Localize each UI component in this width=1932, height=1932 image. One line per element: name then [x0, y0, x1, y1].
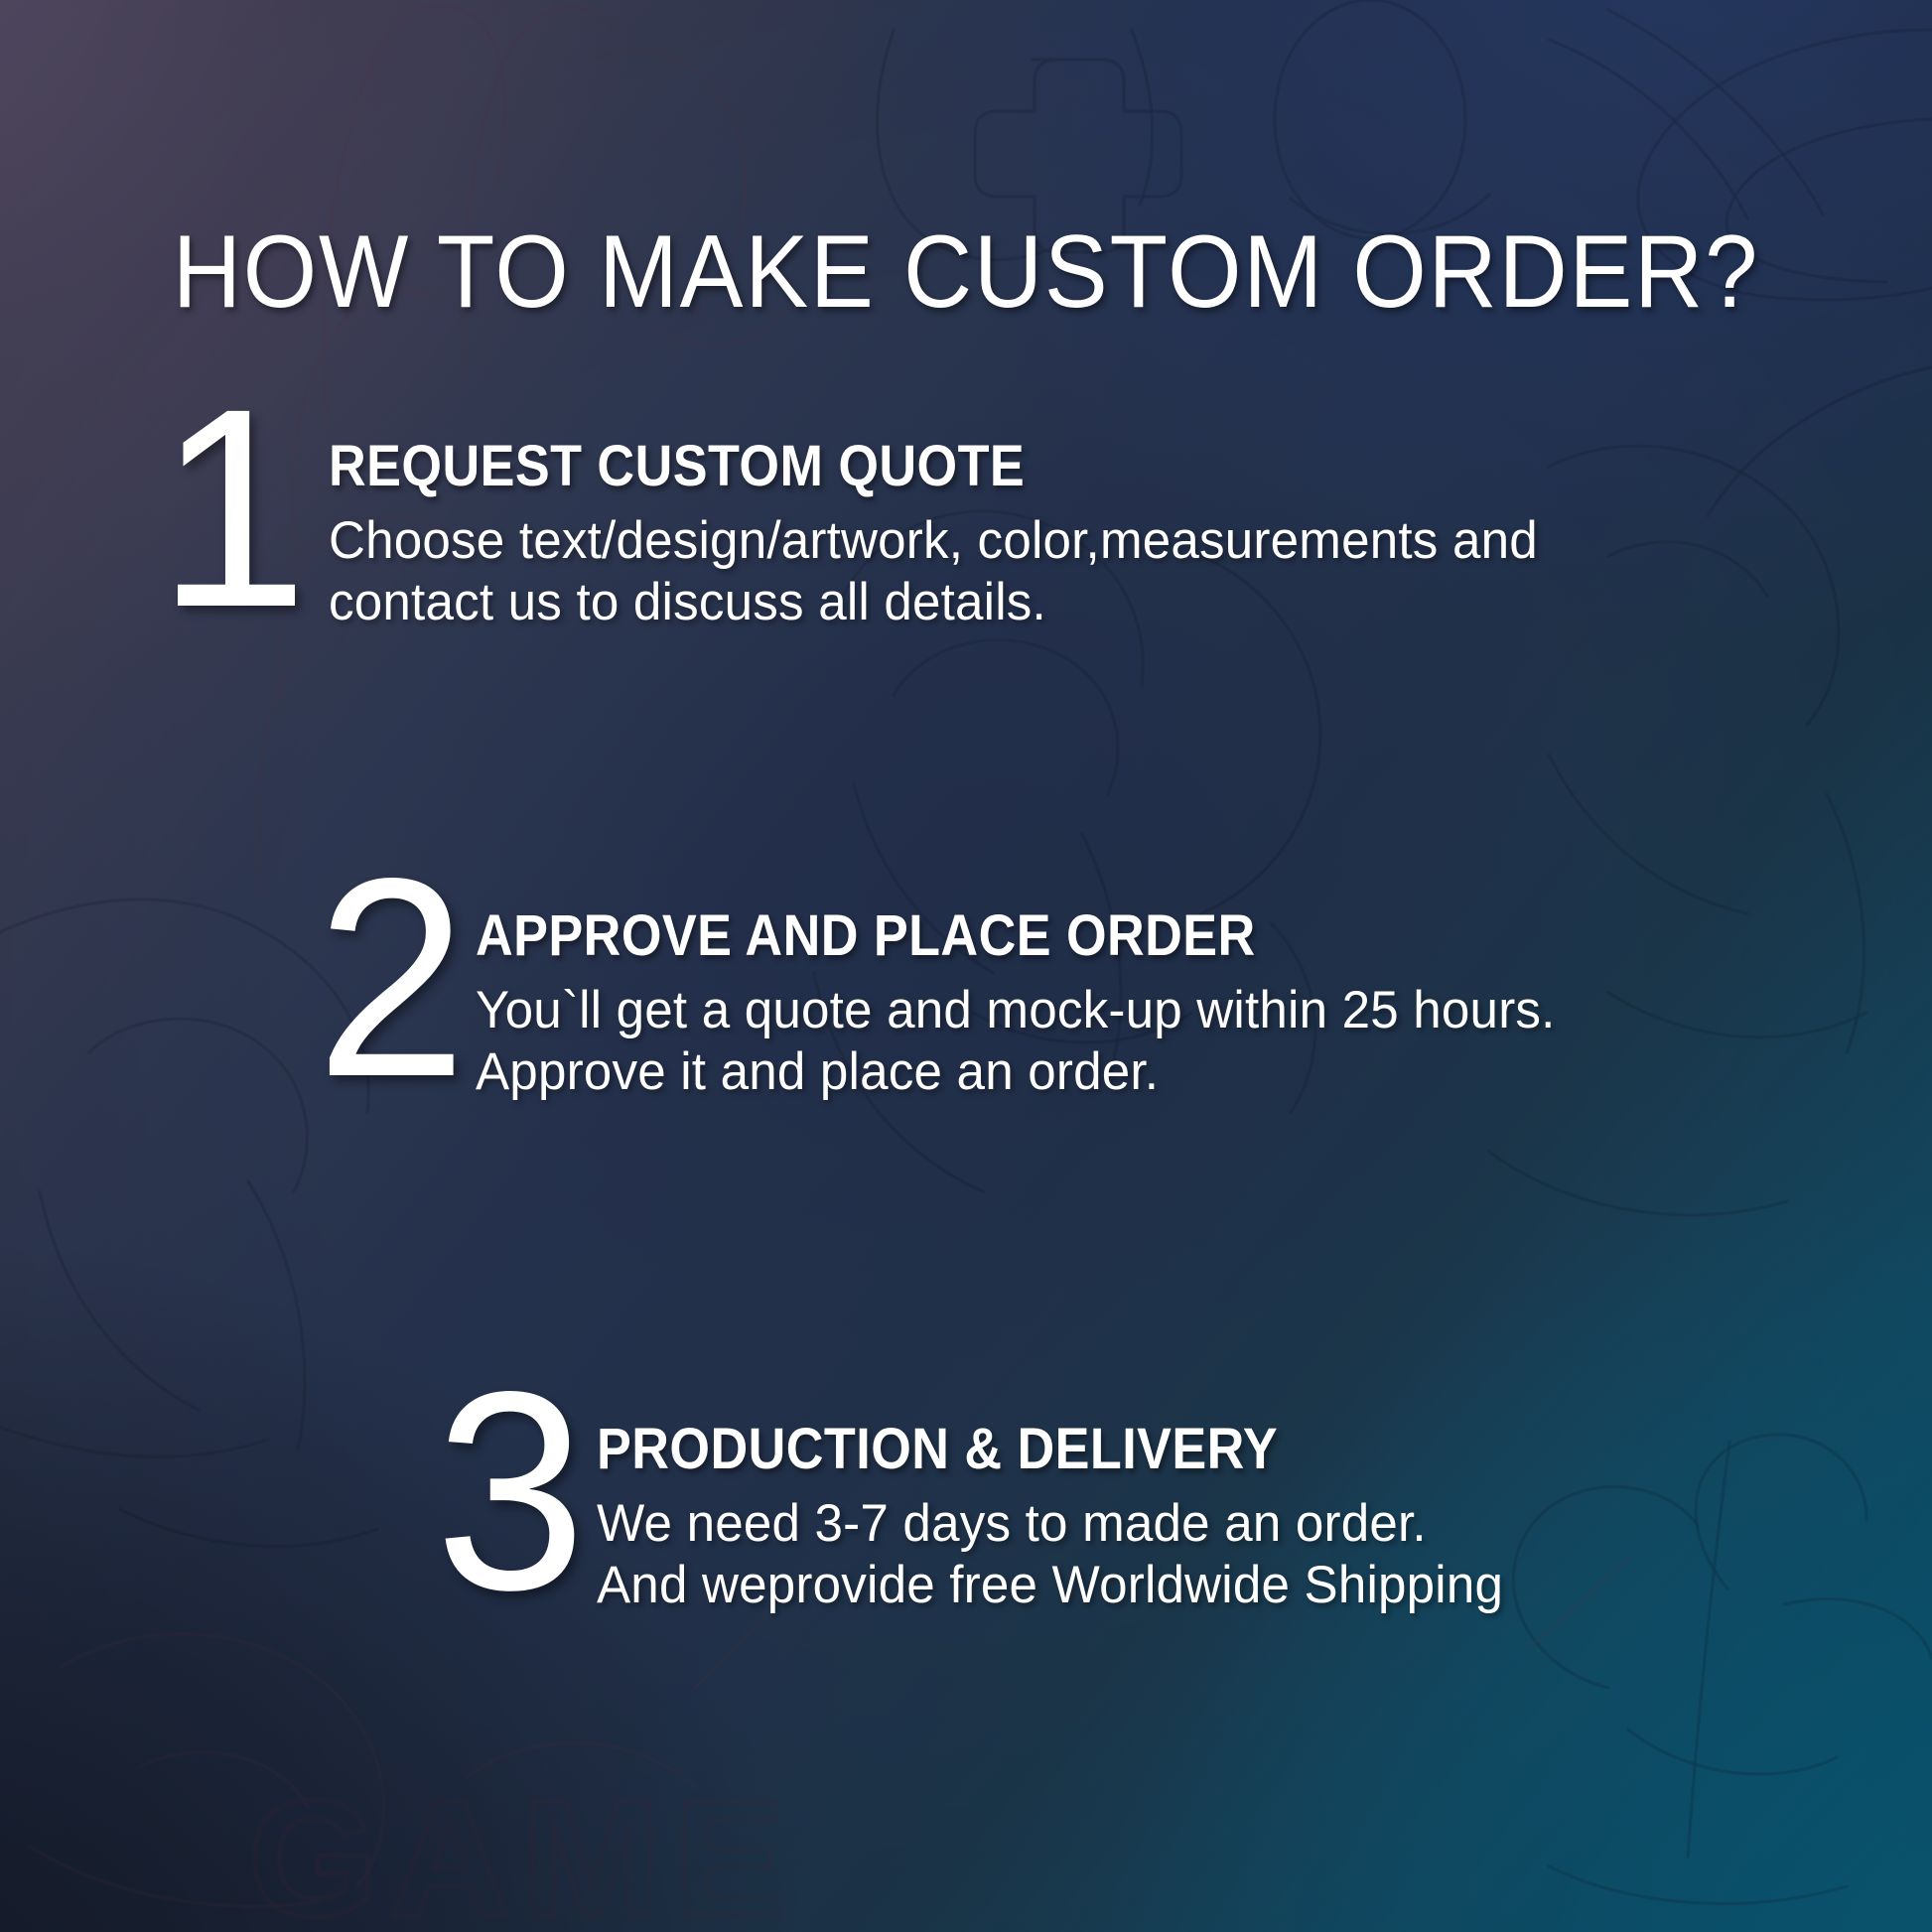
step-heading-1: REQUEST CUSTOM QUOTE [329, 437, 1634, 496]
step-line-3-1: We need 3-7 days to made an order. [597, 1493, 1872, 1555]
step-body-3: PRODUCTION & DELIVERY We need 3-7 days t… [597, 1412, 1918, 1616]
step-number-2: 2 [316, 865, 463, 1091]
step-item-1: 1 REQUEST CUSTOM QUOTE Choose text/desig… [151, 429, 1779, 633]
step-line-1-1: Choose text/design/artwork, color,measur… [329, 510, 1728, 572]
step-text-2: You`ll get a quote and mock-up within 25… [476, 980, 1898, 1103]
step-text-1: Choose text/design/artwork, color,measur… [329, 510, 1779, 633]
step-line-2-2: Approve it and place an order. [476, 1041, 1849, 1103]
step-body-2: APPROVE AND PLACE ORDER You`ll get a quo… [476, 898, 1898, 1103]
step-line-1-2: contact us to discuss all details. [329, 572, 1728, 633]
page-title: HOW TO MAKE CUSTOM ORDER? [77, 220, 1855, 324]
step-line-3-2: And weprovide free Worldwide Shipping [597, 1555, 1872, 1616]
step-heading-3: PRODUCTION & DELIVERY [597, 1420, 1786, 1479]
step-item-2: 2 APPROVE AND PLACE ORDER You`ll get a q… [310, 898, 1898, 1103]
infographic-canvas: GAME HOW TO MAKE CUSTOM ORDER? 1 REQUEST… [0, 0, 1932, 1932]
step-body-1: REQUEST CUSTOM QUOTE Choose text/design/… [329, 429, 1779, 633]
step-text-3: We need 3-7 days to made an order. And w… [597, 1493, 1918, 1616]
step-number-3: 3 [435, 1378, 582, 1604]
step-line-2-1: You`ll get a quote and mock-up within 25… [476, 980, 1849, 1041]
step-item-3: 3 PRODUCTION & DELIVERY We need 3-7 days… [429, 1412, 1918, 1616]
step-heading-2: APPROVE AND PLACE ORDER [476, 906, 1756, 966]
background-word-game: GAME [248, 1765, 796, 1932]
step-number-1: 1 [157, 395, 304, 621]
